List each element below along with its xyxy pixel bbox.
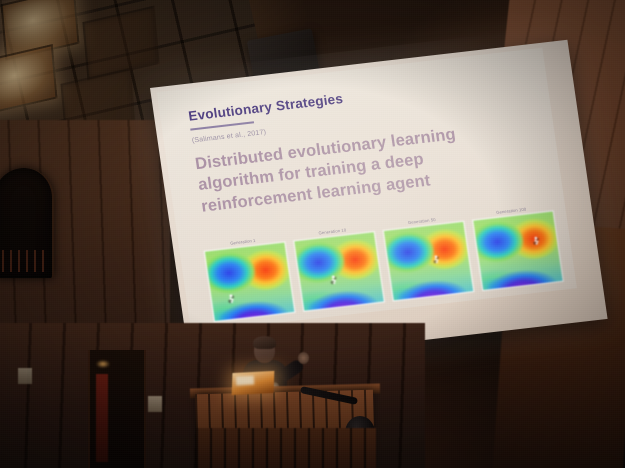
heatmap-image — [383, 220, 475, 301]
heatmap-image — [293, 231, 385, 312]
conference-talk-photo: Evolutionary Strategies (Salimans et al.… — [0, 0, 625, 468]
wall-lamp — [96, 360, 110, 368]
particle-cluster — [224, 292, 239, 306]
heatmap-panel: Generation 100 — [471, 203, 562, 291]
lectern-base — [196, 428, 376, 468]
doorway-curtain — [96, 374, 108, 462]
presenter-hair — [253, 336, 276, 349]
alcove-railing — [2, 250, 50, 272]
title-underline — [190, 121, 254, 130]
heatmap-image — [204, 241, 296, 322]
laptop-screen-glow — [236, 376, 254, 386]
heatmap-image — [472, 210, 564, 291]
heatmap-panel: Generation 10 — [292, 224, 383, 312]
presenter-hand — [298, 352, 309, 364]
wall-plaque — [18, 368, 32, 384]
projection-screen: Evolutionary Strategies (Salimans et al.… — [150, 40, 608, 367]
presentation-slide: Evolutionary Strategies (Salimans et al.… — [157, 48, 577, 333]
particle-cluster — [429, 252, 444, 266]
wall-plaque — [148, 396, 162, 412]
particle-cluster — [327, 273, 342, 287]
heatmap-panel: Generation 1 — [203, 234, 294, 322]
particle-cluster — [529, 234, 544, 248]
slide-title: Evolutionary Strategies — [187, 91, 344, 124]
heatmap-panel: Generation 50 — [382, 214, 473, 302]
slide-citation: (Salimans et al., 2017) — [191, 129, 266, 145]
